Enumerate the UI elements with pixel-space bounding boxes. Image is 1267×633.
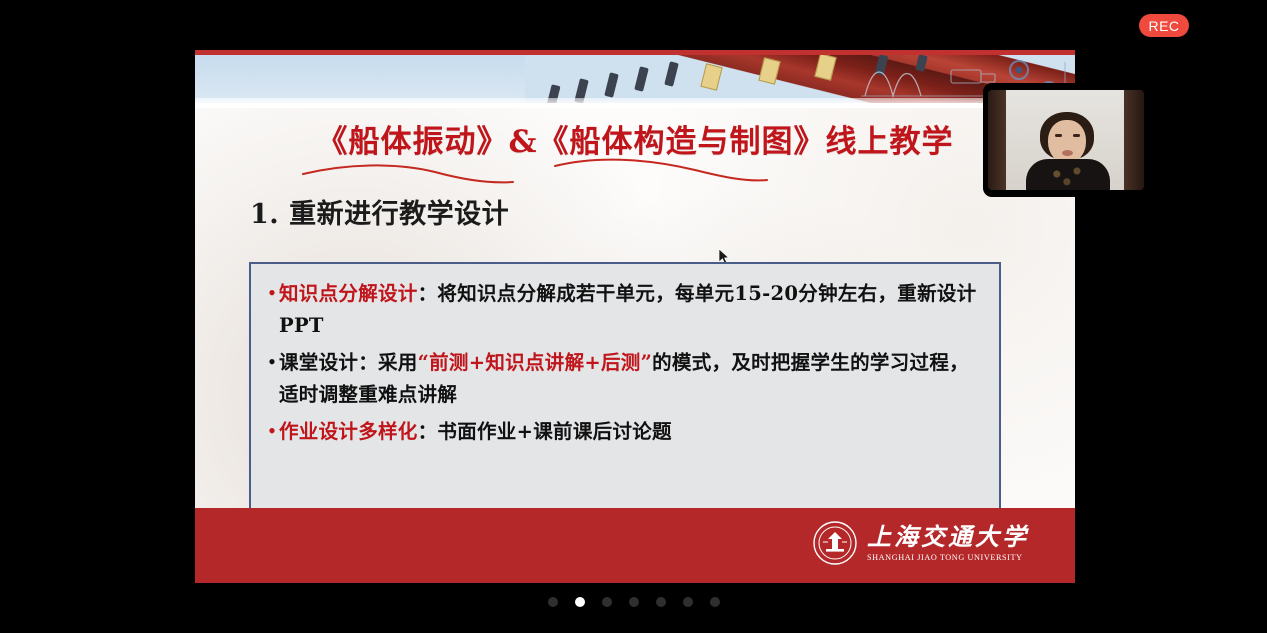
bullet-text: 课堂设计：采用“前测+知识点讲解+后测”的模式，及时把握学生的学习过程，适时调整… xyxy=(279,347,983,410)
webcam-video xyxy=(988,90,1144,190)
university-name-cn: 上海交通大学 xyxy=(867,524,1029,549)
slide-footer: 上海交通大学 SHANGHAI JIAO TONG UNIVERSITY xyxy=(195,508,1075,583)
pagination-dot[interactable] xyxy=(548,597,558,607)
bullet-text: 知识点分解设计：将知识点分解成若干单元，每单元15-20分钟左右，重新设计PPT xyxy=(279,278,983,341)
slide-heading: 1. 重新进行教学设计 xyxy=(250,192,509,231)
slide-title: 《船体振动》&《船体构造与制图》线上教学 xyxy=(195,116,1075,161)
pagination-dot[interactable] xyxy=(629,597,639,607)
bullet-marker: • xyxy=(265,416,279,446)
bullet-text: 作业设计多样化：书面作业+课前课后讨论题 xyxy=(279,416,983,448)
pagination-dot[interactable] xyxy=(602,597,612,607)
presenter-eye-left xyxy=(1055,134,1062,137)
pagination-dot[interactable] xyxy=(575,597,585,607)
list-item: • 作业设计多样化：书面作业+课前课后讨论题 xyxy=(265,416,983,448)
bullet-marker: • xyxy=(265,278,279,308)
list-item: • 课堂设计：采用“前测+知识点讲解+后测”的模式，及时把握学生的学习过程，适时… xyxy=(265,347,983,410)
sjtu-seal-icon xyxy=(812,520,858,566)
list-item: • 知识点分解设计：将知识点分解成若干单元，每单元15-20分钟左右，重新设计P… xyxy=(265,278,983,341)
pagination-dot[interactable] xyxy=(656,597,666,607)
presenter-face xyxy=(1048,120,1086,164)
slide-banner: & xyxy=(195,50,1075,108)
content-box: • 知识点分解设计：将知识点分解成若干单元，每单元15-20分钟左右，重新设计P… xyxy=(249,262,1001,524)
university-name-en: SHANGHAI JIAO TONG UNIVERSITY xyxy=(867,553,1023,562)
recording-badge: REC xyxy=(1139,14,1189,37)
pagination-dots[interactable] xyxy=(0,594,1267,610)
presenter-webcam-overlay[interactable] xyxy=(983,83,1149,197)
university-logo: 上海交通大学 SHANGHAI JIAO TONG UNIVERSITY xyxy=(812,520,1029,566)
recording-badge-label: REC xyxy=(1148,18,1179,34)
pagination-dot[interactable] xyxy=(683,597,693,607)
presenter-eye-right xyxy=(1073,134,1080,137)
presenter-mouth xyxy=(1062,150,1073,156)
university-logo-text: 上海交通大学 SHANGHAI JIAO TONG UNIVERSITY xyxy=(867,524,1029,561)
pagination-dot[interactable] xyxy=(710,597,720,607)
webcam-background-right xyxy=(1124,90,1144,190)
presenter-clothing-pattern xyxy=(1040,162,1096,190)
bullet-marker: • xyxy=(265,347,279,377)
slide-stage[interactable]: & 《船体振动》&《船体构造与制图》线上教学 1. 重新进行教学设计 • 知识点… xyxy=(195,50,1075,583)
webcam-background-left xyxy=(988,90,1008,190)
